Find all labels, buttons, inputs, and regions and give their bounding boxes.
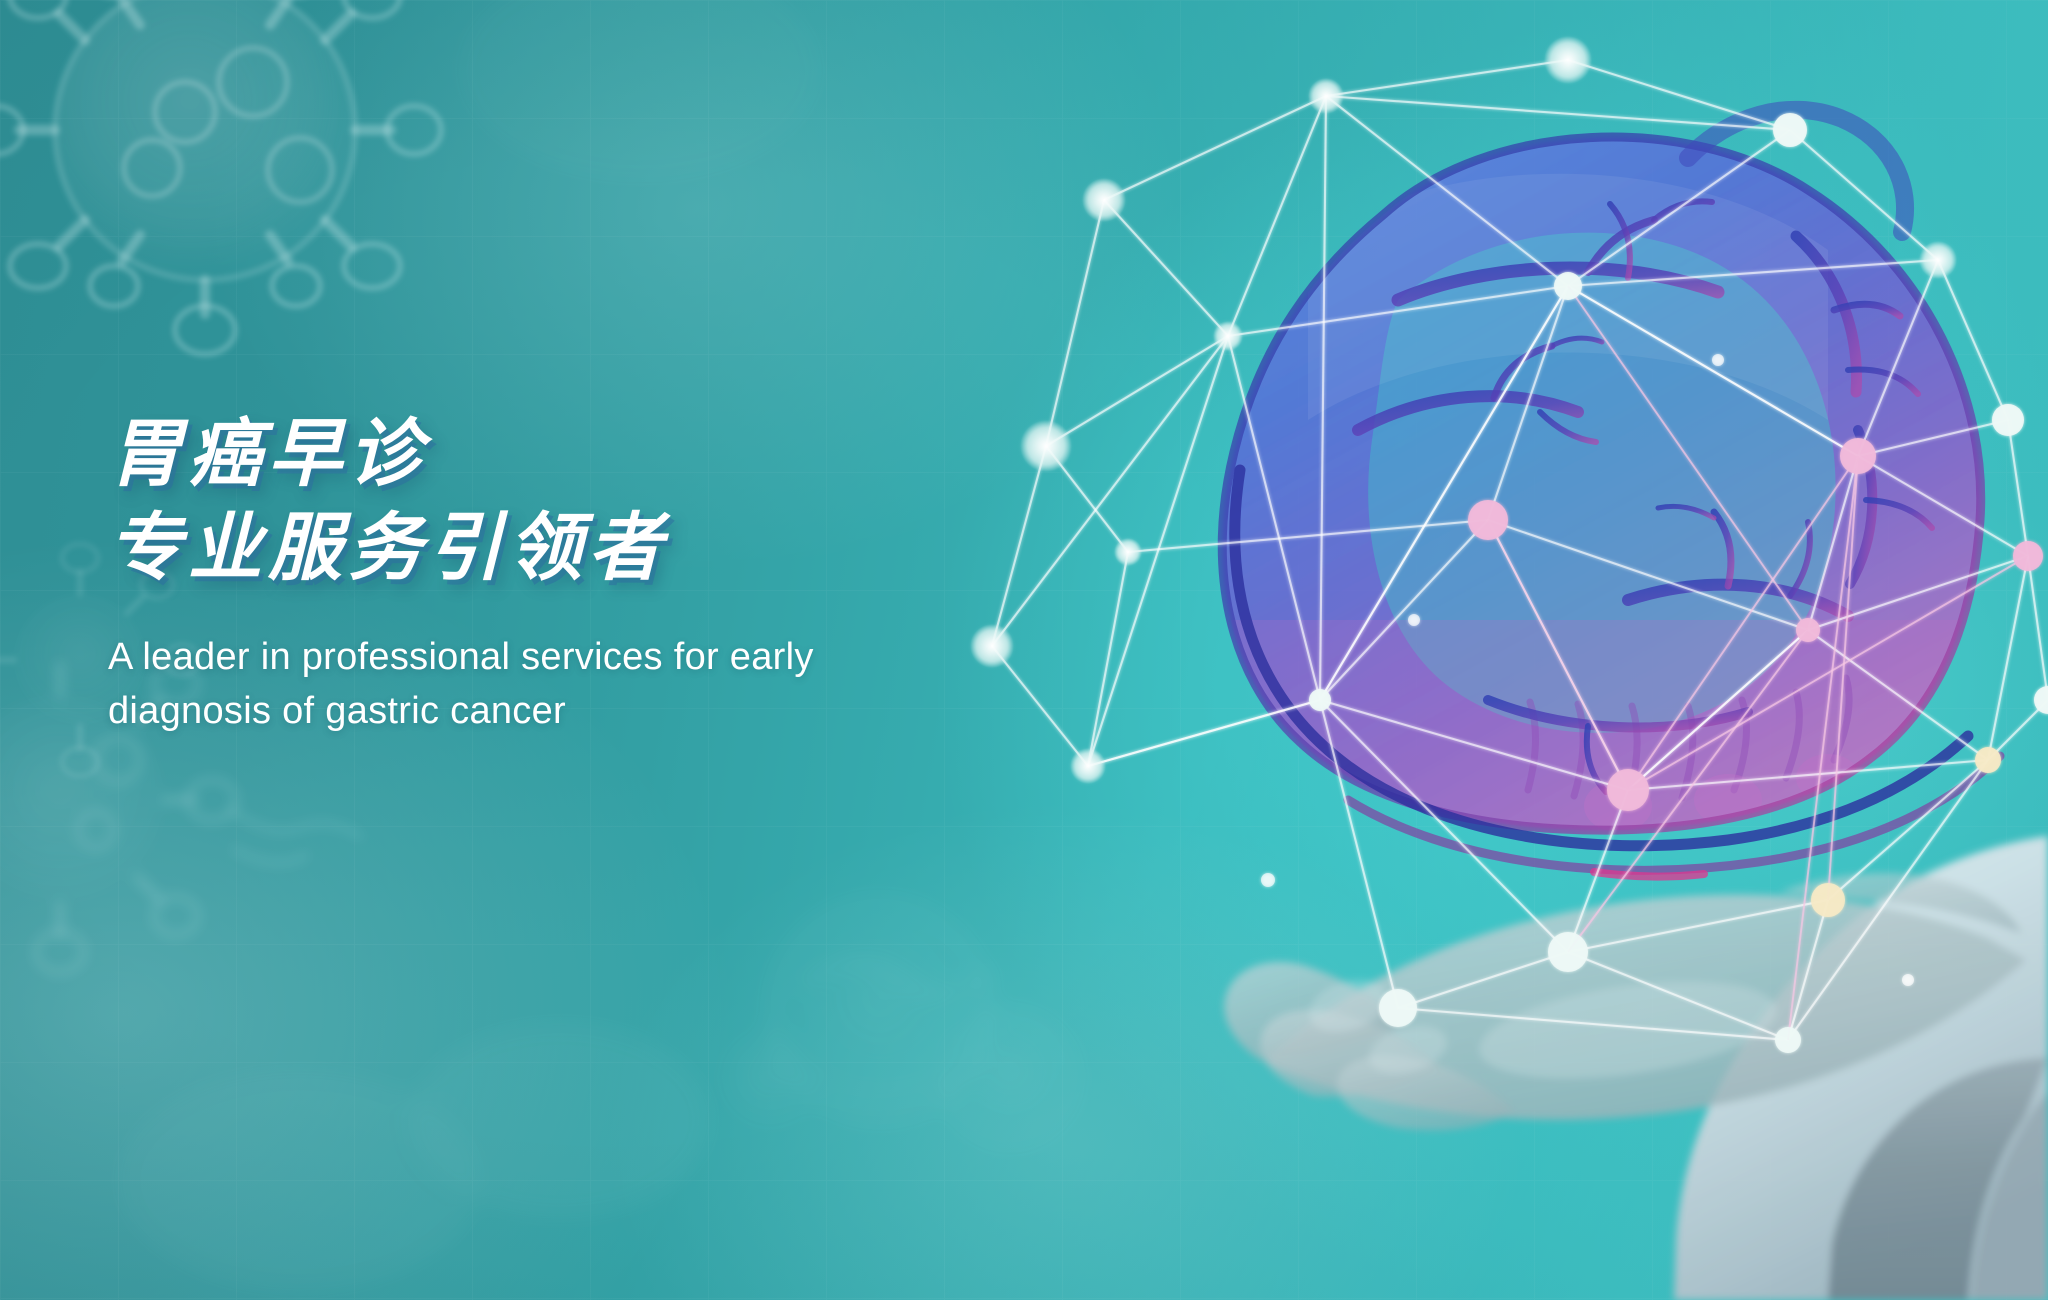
subtitle: A leader in professional services for ea… — [108, 631, 878, 739]
subtitle-line-2: diagnosis of gastric cancer — [108, 685, 878, 739]
hero-banner: 胃癌早诊 专业服务引领者 A leader in professional se… — [0, 0, 2048, 1300]
curvature-pink-highlight — [1594, 872, 1704, 877]
hero-copy: 胃癌早诊 专业服务引领者 A leader in professional se… — [108, 412, 1108, 739]
subtitle-line-1: A leader in professional services for ea… — [108, 631, 878, 685]
headline-line-2: 专业服务引领者 — [108, 506, 1108, 590]
stomach-hologram — [1208, 110, 2008, 877]
headline: 胃癌早诊 专业服务引领者 — [108, 412, 1108, 589]
virus-particle-top-left — [0, 0, 441, 354]
headline-line-1: 胃癌早诊 — [108, 412, 1108, 496]
open-hand-holding-organ — [1224, 836, 2048, 1300]
